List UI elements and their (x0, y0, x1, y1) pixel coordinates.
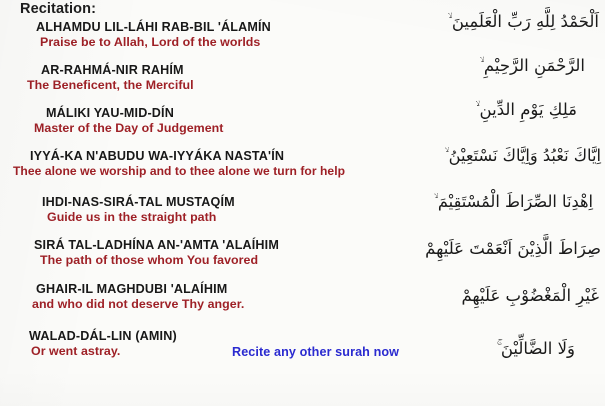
verse-translation: Praise be to Allah, Lord of the worlds (40, 35, 400, 50)
verse-item: IHDI-NAS-SIRÁ-TAL MUSTAQÍM Guide us in t… (0, 195, 400, 225)
verse-item: IYYÁ-KA N'ABUDU WA-IYYÁKA NASTA'ÍN Thee … (0, 149, 400, 179)
arabic-verse: وَلَا الضَّالِّيْنَ ۚ (497, 341, 575, 358)
verse-transliteration: IHDI-NAS-SIRÁ-TAL MUSTAQÍM (42, 195, 400, 210)
verse-transliteration: GHAIR-IL MAGHDUBI 'ALAÍHIM (36, 282, 400, 297)
verse-item: ALHAMDU LIL-LÁHI RAB-BIL 'ÁLAMÍN Praise … (0, 20, 400, 50)
arabic-verse: اِيَّاكَ نَعْبُدُ وَاِيَّاكَ نَسْتَعِيْن… (445, 148, 601, 164)
verse-item: SIRÁ TAL-LADHÍNA AN-'AMTA 'ALAÍHIM The p… (0, 238, 400, 268)
verse-transliteration: MÁLIKI YAU-MID-DÍN (46, 106, 400, 121)
arabic-verse: مَلِكِ يَوْمِ الدِّينِ ۙ (475, 102, 577, 119)
verse-transliteration: AR-RAHMÁ-NIR RAHÍM (41, 63, 400, 78)
arabic-verse: اَلْحَمْدُ لِلَّهِ رَبِّ الْعَلَمِينَ ۙ (448, 14, 599, 31)
arabic-verse: غَيْرِ الْمَغْضُوْبِ عَلَيْهِمْ (461, 288, 599, 305)
verse-translation: The Beneficent, the Merciful (27, 78, 400, 93)
arabic-verse: صِرَاطَ الَّذِيْنَ اَنْعَمْتَ عَلَيْهِمْ (425, 241, 601, 258)
arabic-verse: اِهْدِنَا الصِّرَاطَ الْمُسْتَقِيْمَ ۙ (434, 194, 593, 210)
verse-item: AR-RAHMÁ-NIR RAHÍM The Beneficent, the M… (0, 63, 400, 93)
verse-item: MÁLIKI YAU-MID-DÍN Master of the Day of … (0, 106, 400, 136)
verse-translation: Guide us in the straight path (47, 210, 400, 225)
verse-translation: Master of the Day of Judgement (34, 121, 400, 136)
recite-another-surah-note: Recite any other surah now (232, 345, 399, 359)
verse-transliteration: WALAD-DÁL-LIN (AMIN) (29, 329, 400, 344)
verse-translation: Thee alone we worship and to thee alone … (13, 164, 400, 179)
page-title: Recitation: (20, 1, 96, 17)
verse-transliteration: IYYÁ-KA N'ABUDU WA-IYYÁKA NASTA'ÍN (30, 149, 400, 164)
recitation-page: Recitation: ALHAMDU LIL-LÁHI RAB-BIL 'ÁL… (0, 0, 605, 406)
verse-translation: The path of those whom You favored (40, 253, 400, 268)
arabic-verse: الرَّحْمَنِ الرَّحِيْمِ ۙ (480, 58, 585, 75)
verse-item: GHAIR-IL MAGHDUBI 'ALAÍHIM and who did n… (0, 282, 400, 312)
verse-translation: and who did not deserve Thy anger. (32, 297, 400, 312)
verse-transliteration: ALHAMDU LIL-LÁHI RAB-BIL 'ÁLAMÍN (36, 20, 400, 35)
verse-transliteration: SIRÁ TAL-LADHÍNA AN-'AMTA 'ALAÍHIM (34, 238, 400, 253)
